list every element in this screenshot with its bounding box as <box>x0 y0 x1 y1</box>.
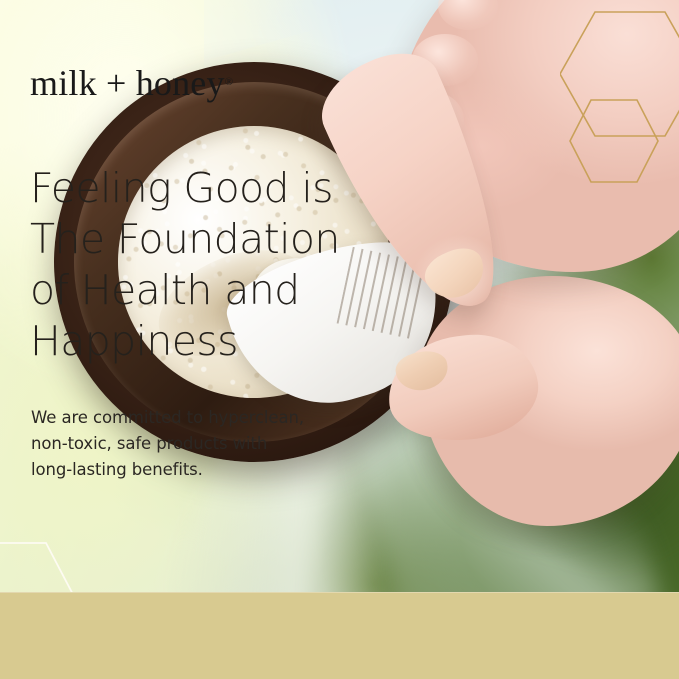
brand-logo-text: milk + honey <box>30 63 225 103</box>
headline-line-3: of Health and <box>30 265 360 316</box>
headline-line-1: Feeling Good is <box>30 163 360 214</box>
marketing-banner: milk + honey® Feeling Good is The Founda… <box>0 0 679 679</box>
headline: Feeling Good is The Foundation of Health… <box>30 163 360 367</box>
body-copy-line-3: long-lasting benefits. <box>31 457 361 483</box>
registered-trademark-icon: ® <box>225 76 233 88</box>
headline-line-2: The Foundation <box>30 214 360 265</box>
body-copy: We are committed to hyperclean, non-toxi… <box>31 405 361 483</box>
body-copy-line-2: non-toxic, safe products with <box>31 431 361 457</box>
brand-logo: milk + honey® <box>30 62 233 104</box>
hexagon-gold-small-icon <box>568 98 660 184</box>
band-top-edge <box>0 592 679 593</box>
headline-line-4: Happiness <box>30 316 360 367</box>
knuckle-highlight <box>438 0 498 30</box>
bottom-color-band <box>0 592 679 679</box>
body-copy-line-1: We are committed to hyperclean, <box>31 405 361 431</box>
